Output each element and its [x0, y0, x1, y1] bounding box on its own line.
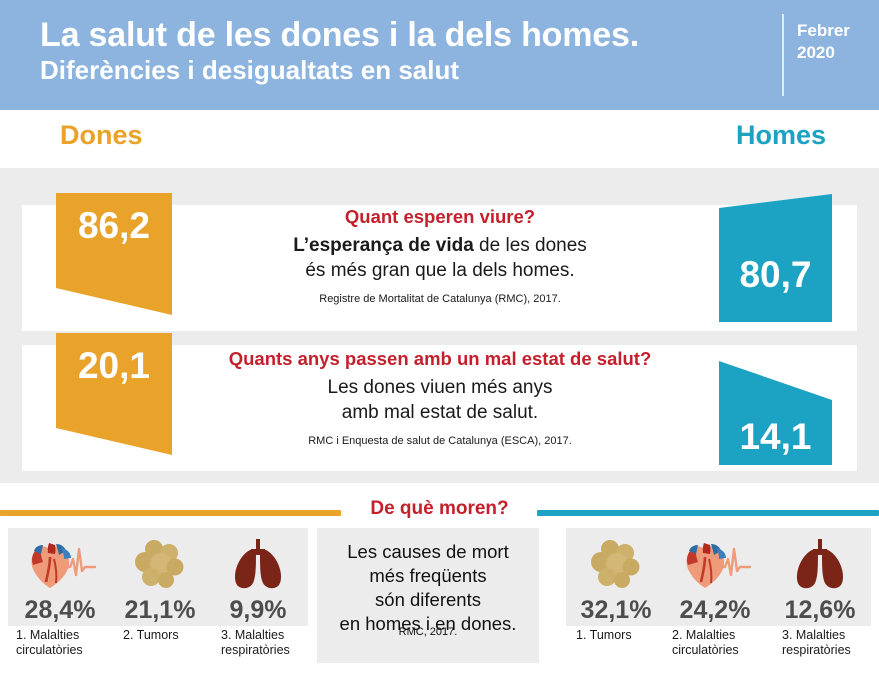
page-title: La salut de les dones i la dels homes. [40, 16, 760, 54]
women-cause-2-label-line1: 2. Tumors [123, 628, 219, 643]
women-column-label: Dones [60, 120, 143, 151]
men-cause-3-label-line1: 3. Malalties [782, 628, 878, 643]
fact-question-1: Quant esperen viure? [160, 206, 720, 228]
women-cause-1: 28,4% [10, 534, 110, 625]
fact-body-line1-1: L’esperança de vida de les dones [160, 234, 720, 259]
men-cause-1-pct: 32,1% [568, 596, 664, 625]
fact-question-2: Quants anys passen amb un mal estat de s… [160, 348, 720, 370]
header-divider [782, 14, 784, 96]
gender-label-row: Dones Homes [0, 110, 879, 168]
fact-text-2: Quants anys passen amb un mal estat de s… [160, 348, 720, 447]
women-cause-1-pct: 28,4% [10, 596, 110, 625]
tumor-icon [568, 534, 664, 596]
lungs-icon [210, 534, 306, 596]
heart-icon [665, 534, 765, 596]
lungs-icon [772, 534, 868, 596]
causes-center-panel: Les causes de mort més freqüents són dif… [317, 528, 539, 663]
men-value-2: 14,1 [719, 416, 832, 458]
center-line-1: Les causes de mort [317, 540, 539, 564]
fact-source-2: RMC i Enquesta de salut de Catalunya (ES… [160, 435, 720, 447]
fact-body-1: L’esperança de vida de les dones és més … [160, 234, 720, 283]
men-value-1: 80,7 [719, 254, 832, 296]
men-cause-1-label: 1. Tumors [576, 628, 672, 643]
page-subtitle: Diferències i desigualtats en salut [40, 56, 760, 86]
men-cause-3: 12,6% [772, 534, 868, 625]
center-line-2: més freqüents [317, 564, 539, 588]
fact-text-1: Quant esperen viure? L’esperança de vida… [160, 206, 720, 305]
infographic-page: La salut de les dones i la dels homes. D… [0, 0, 879, 695]
causes-center-text: Les causes de mort més freqüents són dif… [317, 540, 539, 636]
women-cause-1-label: 1. Malalties circulatòries [16, 628, 116, 659]
fact-body-line2-1: és més gran que la dels homes. [160, 259, 720, 284]
fact-body-line2-2: amb mal estat de salut. [160, 401, 720, 426]
women-value-2: 20,1 [56, 345, 172, 387]
fact-body-line1-2: Les dones viuen més anys [160, 376, 720, 401]
fact-body-bold-1: L’esperança de vida [293, 235, 474, 256]
men-cause-1-label-line1: 1. Tumors [576, 628, 672, 643]
fact-source-1: Registre de Mortalitat de Catalunya (RMC… [160, 293, 720, 305]
fact-body-2: Les dones viuen més anys amb mal estat d… [160, 376, 720, 425]
facts-panel: 86,2 80,7 Quant esperen viure? L’esperan… [0, 168, 879, 483]
fact-body-rest-2: Les dones viuen més anys [328, 377, 553, 398]
women-cause-3-label-line2: respiratòries [221, 643, 317, 658]
men-cause-3-pct: 12,6% [772, 596, 868, 625]
men-cause-2-pct: 24,2% [665, 596, 765, 625]
women-cause-3-label-line1: 3. Malalties [221, 628, 317, 643]
publication-date: Febrer 2020 [797, 20, 877, 64]
men-cause-1: 32,1% [568, 534, 664, 625]
fact-body-rest-1: de les dones [474, 235, 587, 256]
women-cause-2-label: 2. Tumors [123, 628, 219, 643]
men-cause-2-label-line2: circulatòries [672, 643, 772, 658]
women-cause-2: 21,1% [112, 534, 208, 625]
center-line-3: són diferents [317, 588, 539, 612]
men-cause-3-label: 3. Malalties respiratòries [782, 628, 878, 659]
date-year: 2020 [797, 42, 877, 64]
men-cause-3-label-line2: respiratòries [782, 643, 878, 658]
women-cause-3: 9,9% [210, 534, 306, 625]
men-cause-2-label-line1: 2. Malalties [672, 628, 772, 643]
women-cause-3-pct: 9,9% [210, 596, 306, 625]
women-cause-1-label-line1: 1. Malalties [16, 628, 116, 643]
header-band: La salut de les dones i la dels homes. D… [0, 0, 879, 110]
women-cause-2-pct: 21,1% [112, 596, 208, 625]
women-cause-1-label-line2: circulatòries [16, 643, 116, 658]
date-month: Febrer [797, 20, 877, 42]
header-title-group: La salut de les dones i la dels homes. D… [40, 16, 760, 86]
women-value-1: 86,2 [56, 205, 172, 247]
women-cause-3-label: 3. Malalties respiratòries [221, 628, 317, 659]
men-column-label: Homes [736, 120, 826, 151]
causes-section-title: De què moren? [0, 498, 879, 520]
men-cause-2: 24,2% [665, 534, 765, 625]
men-cause-2-label: 2. Malalties circulatòries [672, 628, 772, 659]
heart-icon [10, 534, 110, 596]
tumor-icon [112, 534, 208, 596]
causes-center-source: RMC, 2017. [317, 626, 539, 638]
